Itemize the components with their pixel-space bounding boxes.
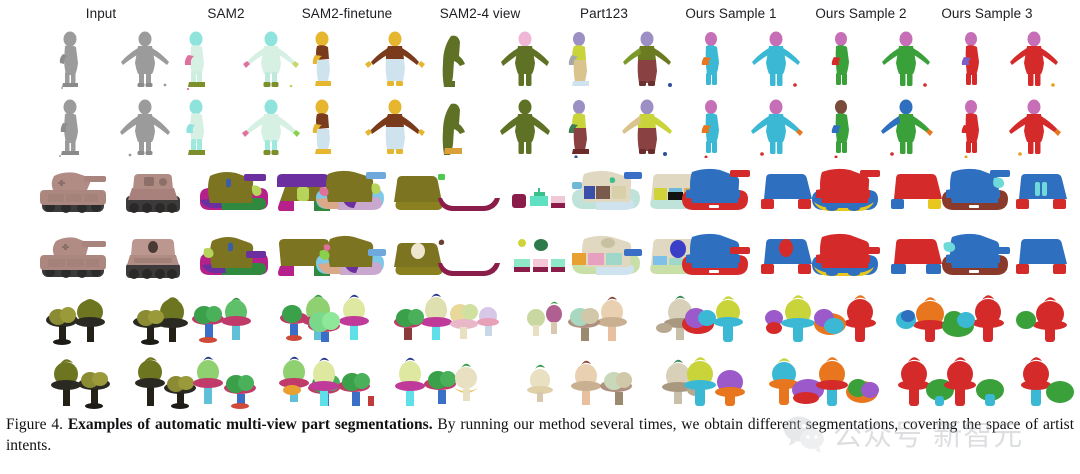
panel-sam2-4view-tank-front-a <box>508 166 570 224</box>
panel-ours1-character-front-a <box>742 28 810 90</box>
panel-ours3-mushroom-c <box>936 356 1016 412</box>
panel-sam2-finetune-mushroom-c <box>300 356 384 412</box>
panel-sam2-4view-character-front-a <box>490 28 560 90</box>
panel-sam2-tank-side-a <box>192 166 270 224</box>
segmentation-grid <box>0 26 1080 404</box>
panel-sam2-4view-character-side-a <box>424 28 480 90</box>
panel-input-mushroom-c <box>38 356 124 412</box>
panel-ours3-mushroom-d <box>1016 356 1076 412</box>
panel-ours2-character-side-b <box>814 96 870 158</box>
figure-caption-label: Figure 4. <box>6 416 63 433</box>
panel-ours1-character-front-b <box>742 96 810 158</box>
panel-sam2-4view-character-front-b <box>490 96 560 158</box>
panel-ours3-character-front-a <box>1000 28 1068 90</box>
panel-sam2-tank-side-b <box>192 231 270 289</box>
panel-ours3-character-front-b <box>1000 96 1068 158</box>
figure-caption-title: Examples of automatic multi-view part se… <box>68 416 433 433</box>
panel-ours2-mushroom-a <box>806 292 886 348</box>
panel-sam2-finetune-character-side-b <box>292 96 354 158</box>
panel-part123-character-side-a <box>552 28 608 90</box>
panel-sam2-4view-tank-side-a <box>434 166 504 224</box>
panel-input-mushroom-a <box>38 292 124 348</box>
column-header-sam2: SAM2 <box>207 6 244 21</box>
panel-ours2-character-side-a <box>814 28 870 90</box>
panel-input-character-side-b <box>40 96 102 158</box>
panel-part123-tank-side-b <box>566 231 644 289</box>
panel-ours1-character-side-a <box>684 28 740 90</box>
panel-sam2-4view-mushroom-c <box>440 356 510 412</box>
panel-part123-mushroom-c <box>562 356 646 412</box>
column-header-ours-sample-2: Ours Sample 2 <box>815 6 906 21</box>
panel-sam2-character-side-a <box>166 28 228 90</box>
panel-ours1-tank-side-b <box>676 231 752 289</box>
column-header-ours-sample-1: Ours Sample 1 <box>685 6 776 21</box>
panel-input-character-side-a <box>40 28 102 90</box>
panel-sam2-finetune-tank-side-b <box>310 231 388 289</box>
panel-ours3-character-side-b <box>944 96 1000 158</box>
panel-ours2-tank-side-b <box>806 231 882 289</box>
panel-ours1-tank-side-a <box>676 166 752 224</box>
panel-ours2-tank-side-a <box>806 166 882 224</box>
panel-sam2-4view-mushroom-a <box>440 292 510 348</box>
panel-ours3-character-side-a <box>944 28 1000 90</box>
column-header-sam2-4view: SAM2-4 view <box>440 6 521 21</box>
column-header-part123: Part123 <box>580 6 628 21</box>
panel-input-tank-front-b <box>120 231 186 289</box>
column-header-row: Input SAM2 SAM2-finetune SAM2-4 view Par… <box>0 6 1080 28</box>
panel-sam2-finetune-tank-side-a <box>310 166 388 224</box>
panel-ours1-character-side-b <box>684 96 740 158</box>
panel-part123-tank-side-a <box>566 166 644 224</box>
panel-sam2-finetune-character-front-a <box>360 28 430 90</box>
column-header-sam2-finetune: SAM2-finetune <box>302 6 393 21</box>
panel-ours2-mushroom-c <box>806 356 886 412</box>
panel-input-tank-front-a <box>120 166 186 224</box>
panel-ours3-tank-side-b <box>936 231 1012 289</box>
panel-sam2-mushroom-a <box>184 292 268 348</box>
panel-sam2-finetune-mushroom-a <box>300 292 384 348</box>
panel-ours1-mushroom-c <box>676 356 756 412</box>
figure-caption: Figure 4. Examples of automatic multi-vi… <box>6 414 1074 456</box>
panel-sam2-4view-tank-side-b <box>434 231 504 289</box>
panel-ours2-character-front-b <box>872 96 940 158</box>
panel-part123-character-side-b <box>552 96 608 158</box>
panel-input-tank-side-a <box>34 166 114 224</box>
panel-ours3-mushroom-b <box>1016 292 1076 348</box>
panel-ours3-mushroom-a <box>936 292 1016 348</box>
panel-sam2-mushroom-c <box>184 356 268 412</box>
figure-panel: Input SAM2 SAM2-finetune SAM2-4 view Par… <box>0 0 1080 474</box>
panel-part123-mushroom-a <box>562 292 646 348</box>
panel-sam2-character-side-b <box>166 96 228 158</box>
panel-sam2-finetune-character-side-a <box>292 28 354 90</box>
panel-ours3-tank-front-a <box>1012 166 1070 224</box>
column-header-input: Input <box>86 6 117 21</box>
panel-ours3-tank-side-a <box>936 166 1012 224</box>
panel-sam2-4view-character-side-b <box>424 96 480 158</box>
panel-sam2-4view-tank-front-b <box>508 231 570 289</box>
panel-input-tank-side-b <box>34 231 114 289</box>
panel-part123-character-front-a <box>612 28 682 90</box>
panel-part123-character-front-b <box>612 96 682 158</box>
column-header-ours-sample-3: Ours Sample 3 <box>941 6 1032 21</box>
panel-ours3-tank-front-b <box>1012 231 1070 289</box>
panel-sam2-finetune-character-front-b <box>360 96 430 158</box>
panel-ours1-mushroom-a <box>676 292 756 348</box>
panel-ours2-character-front-a <box>872 28 940 90</box>
